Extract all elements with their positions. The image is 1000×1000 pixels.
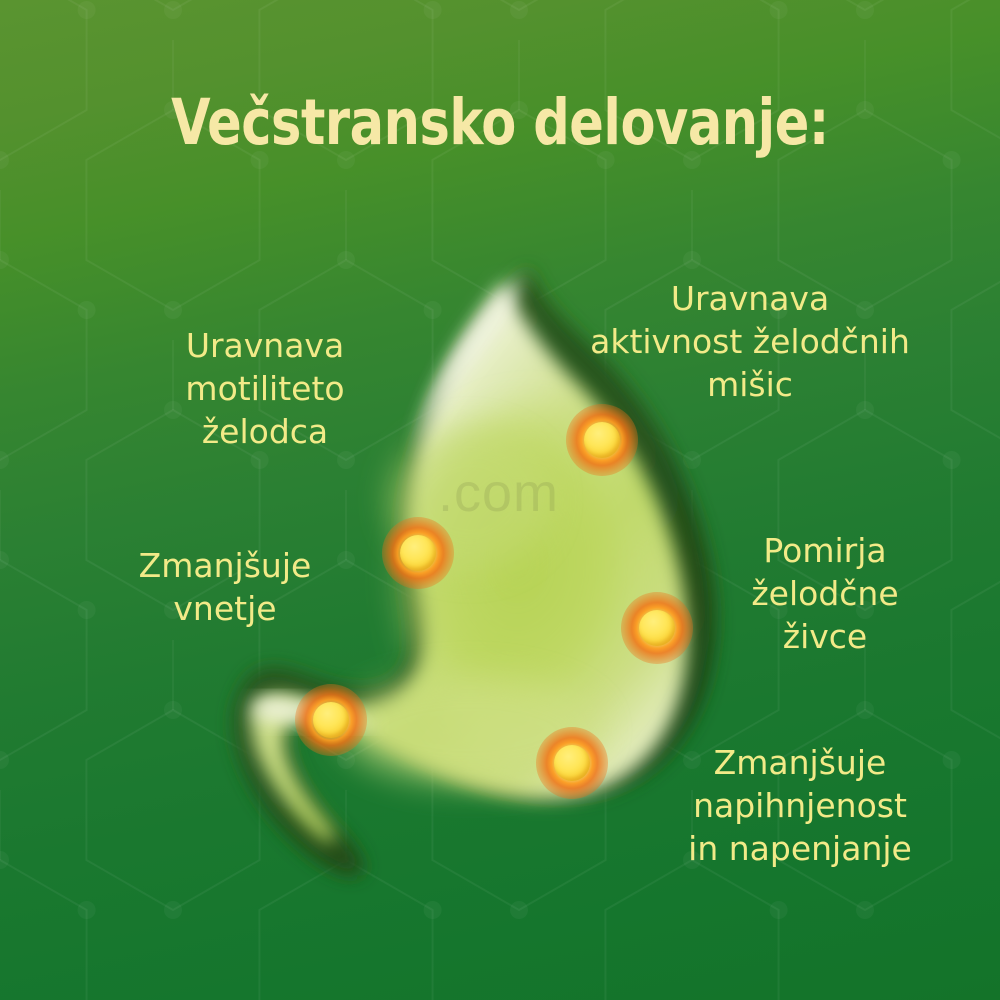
dot-bottom-mid [536, 727, 608, 799]
dot-left [382, 517, 454, 589]
callout-label-zmanjsuje-vnetje: Zmanjšuje vnetje [80, 545, 370, 631]
dot-upper-right [566, 404, 638, 476]
infographic-canvas: .com Večstransko delovanje: Uravnava mot… [0, 0, 1000, 1000]
callout-label-pomirja-zelodcne-zivce: Pomirja želodčne živce [700, 530, 950, 659]
callout-label-uravnava-motiliteto-zelodca: Uravnava motiliteto želodca [120, 325, 410, 454]
dot-right [621, 592, 693, 664]
page-title: Večstransko delovanje: [50, 86, 950, 159]
dot-bottom-left [295, 684, 367, 756]
callout-label-uravnava-aktivnost-zelodcnih-misic: Uravnava aktivnost želodčnih mišic [545, 278, 955, 407]
callout-label-zmanjsuje-napihnjenost-in-napenjanje: Zmanjšuje napihnjenost in napenjanje [640, 742, 960, 871]
